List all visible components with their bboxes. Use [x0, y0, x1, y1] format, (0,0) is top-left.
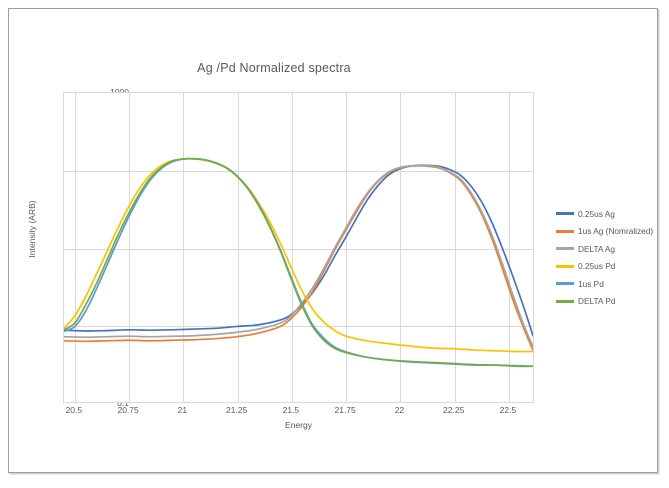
legend-label: 1us Pd	[578, 279, 604, 289]
x-axis-label: Energy	[63, 420, 534, 430]
series-line	[64, 165, 533, 346]
legend-item[interactable]: DELTA Pd	[556, 293, 660, 311]
legend-item[interactable]: 0.25us Pd	[556, 258, 660, 276]
legend-color-swatch	[556, 247, 574, 250]
legend-item[interactable]: DELTA Ag	[556, 240, 660, 258]
series-line	[64, 159, 533, 367]
legend-label: 0.25us Ag	[578, 209, 615, 219]
x-tick-label: 20.5	[52, 405, 96, 415]
legend-color-swatch	[556, 300, 574, 303]
legend-label: 1us Ag (Nomralized)	[578, 226, 653, 236]
legend-color-swatch	[556, 212, 574, 215]
x-tick-label: 20.75	[106, 405, 150, 415]
x-tick-label: 21.5	[269, 405, 313, 415]
legend-label: DELTA Pd	[578, 296, 616, 306]
series-line	[64, 159, 533, 367]
x-tick-label: 22.5	[486, 405, 530, 415]
legend-color-swatch	[556, 265, 574, 268]
x-tick-label: 21.25	[215, 405, 259, 415]
x-tick-label: 22.25	[432, 405, 476, 415]
series-lines	[64, 93, 533, 402]
legend-color-swatch	[556, 282, 574, 285]
legend-item[interactable]: 1us Pd	[556, 275, 660, 293]
legend-item[interactable]: 0.25us Ag	[556, 205, 660, 223]
plot-area	[63, 92, 534, 403]
x-tick-label: 21.75	[323, 405, 367, 415]
series-line	[64, 159, 533, 352]
legend-label: 0.25us Pd	[578, 261, 615, 271]
x-tick-label: 22	[377, 405, 421, 415]
y-axis-label: Intensity (ARB)	[27, 174, 37, 284]
x-tick-label: 21	[160, 405, 204, 415]
legend-item[interactable]: 1us Ag (Nomralized)	[556, 223, 660, 241]
series-line	[64, 166, 533, 350]
legend-color-swatch	[556, 230, 574, 233]
chart-frame: Ag /Pd Normalized spectra Intensity (ARB…	[8, 8, 658, 473]
legend-label: DELTA Ag	[578, 244, 615, 254]
chart-legend: 0.25us Ag1us Ag (Nomralized)DELTA Ag0.25…	[556, 205, 660, 310]
